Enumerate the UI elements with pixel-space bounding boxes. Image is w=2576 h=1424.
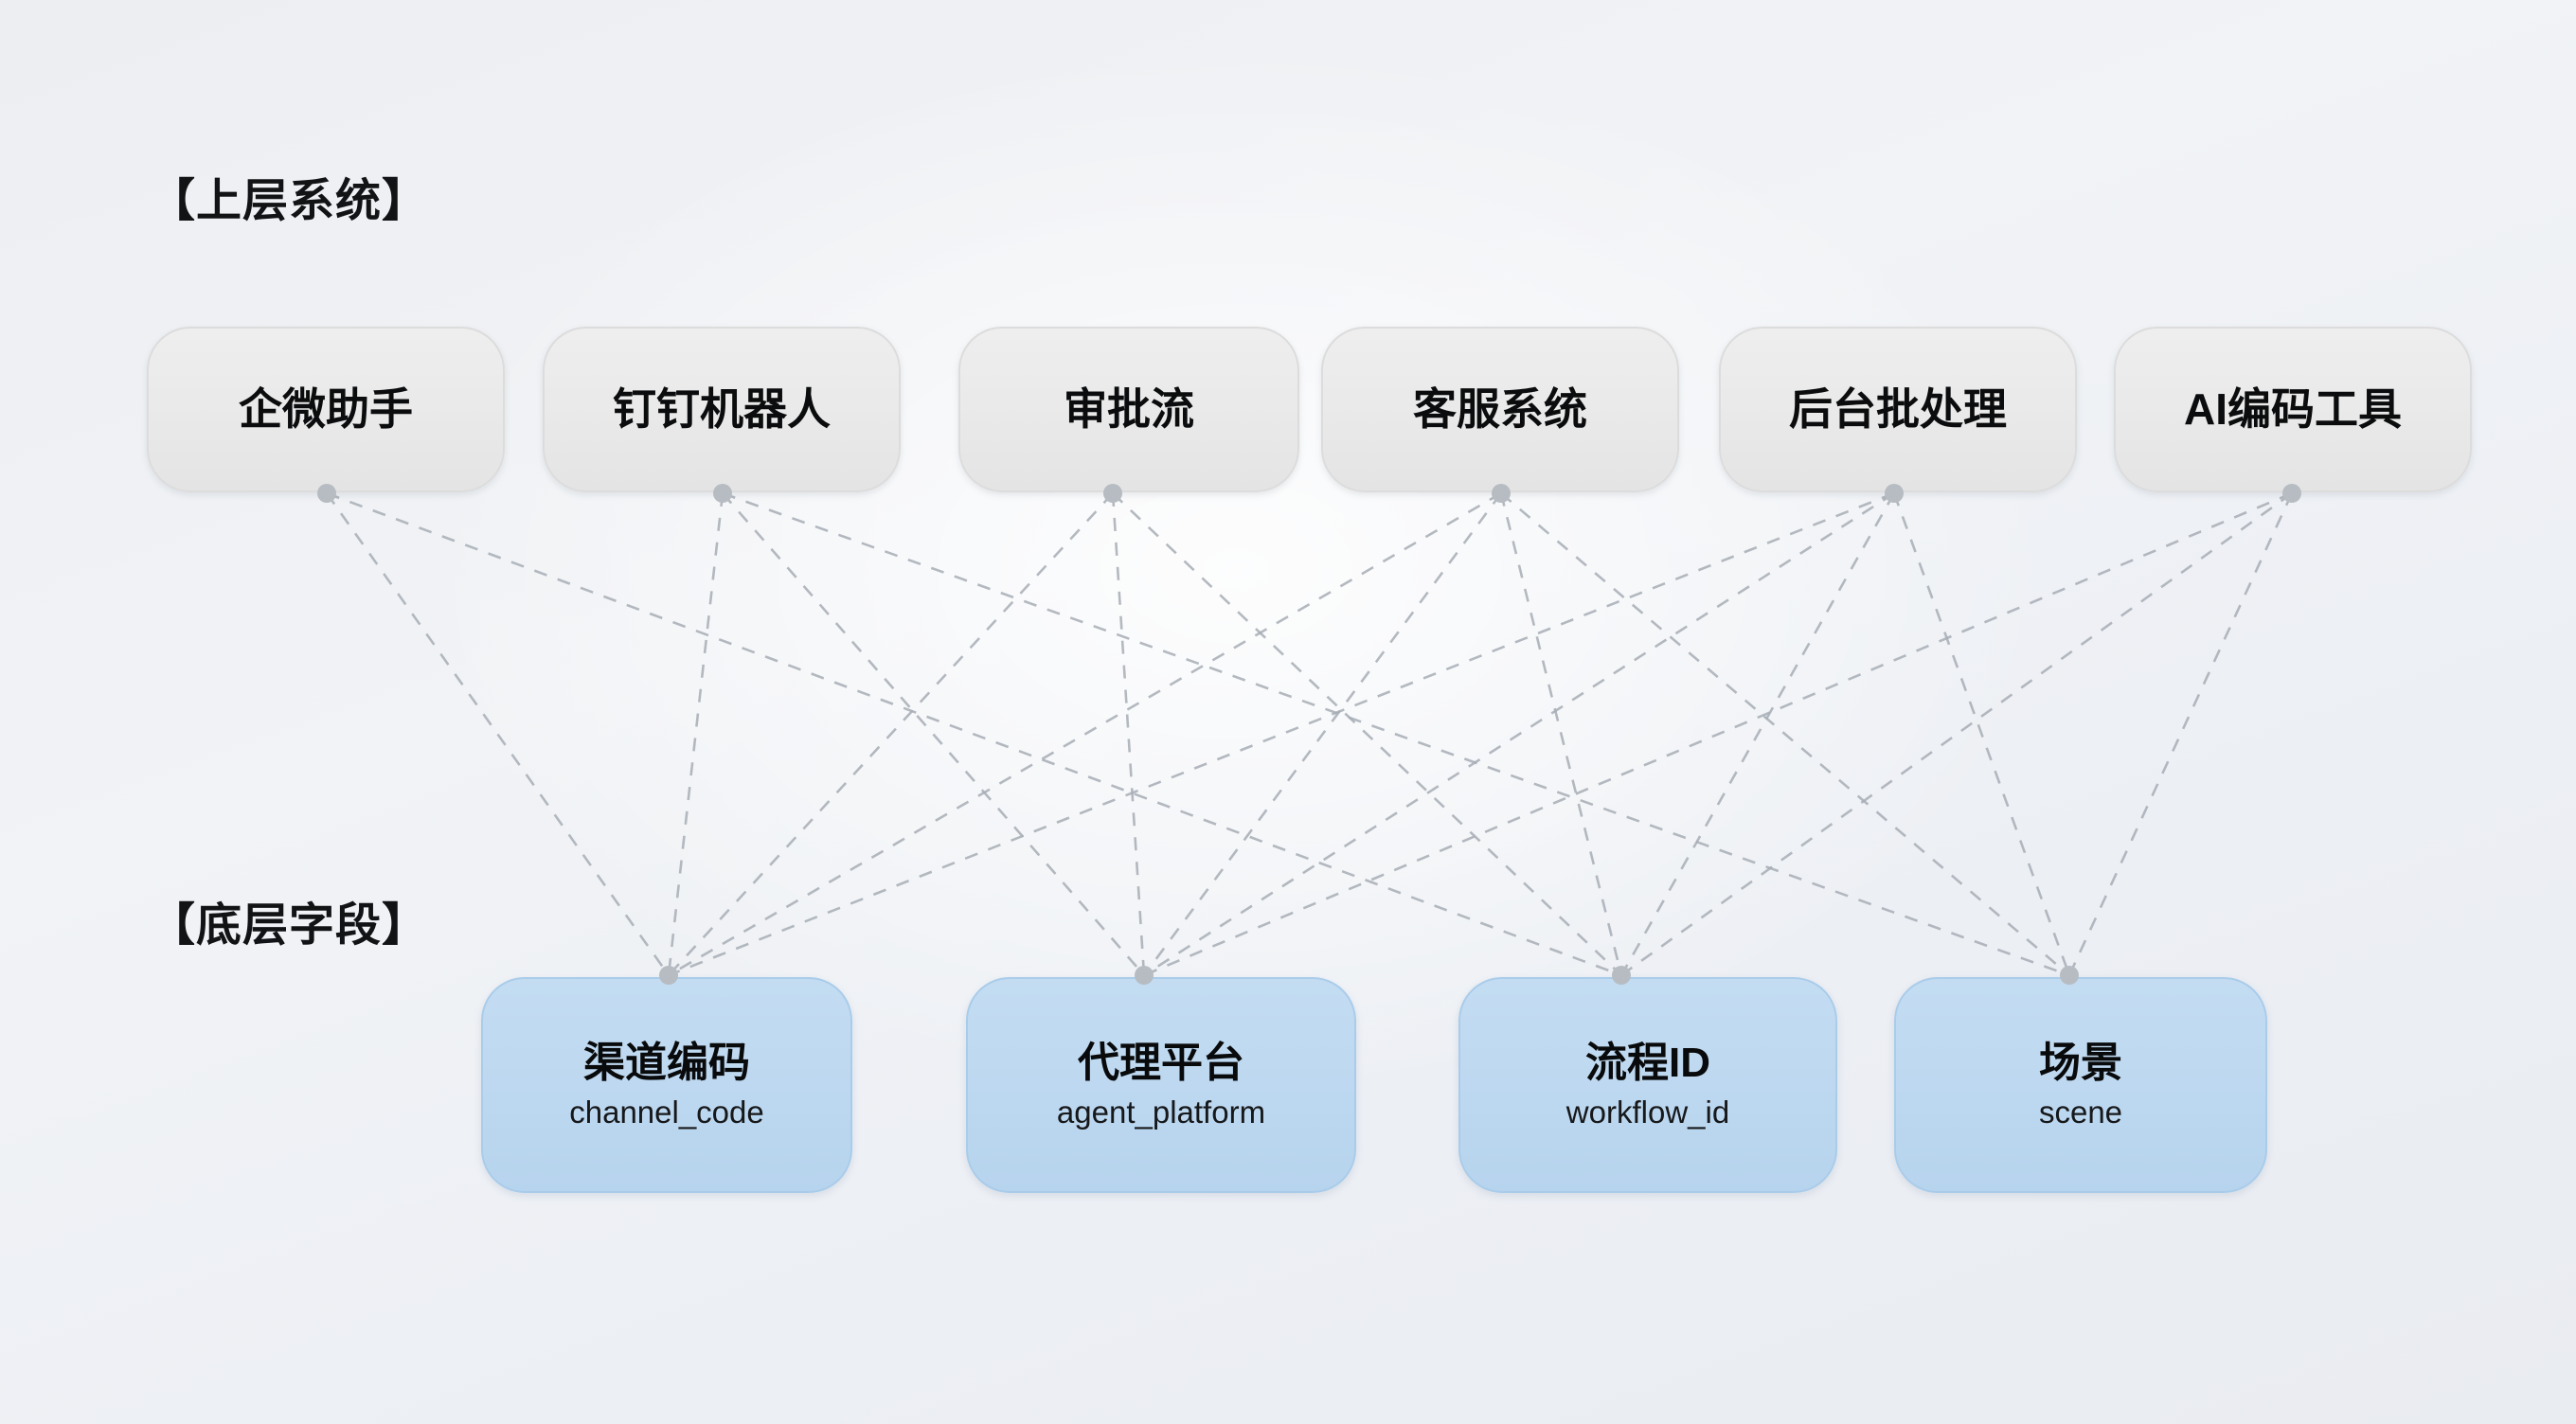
upper-node-batch[interactable]: 后台批处理 xyxy=(1719,327,2077,492)
upper-node-qiwei[interactable]: 企微助手 xyxy=(147,327,505,492)
lower-node-label: 场景 xyxy=(2039,1041,2122,1085)
upper-node-service[interactable]: 客服系统 xyxy=(1321,327,1679,492)
lower-node-channel[interactable]: 渠道编码channel_code xyxy=(481,977,852,1193)
edge-batch-to-scene xyxy=(1894,493,2069,975)
lower-node-scene[interactable]: 场景scene xyxy=(1894,977,2267,1193)
lower-node-label: 渠道编码 xyxy=(583,1041,750,1085)
upper-node-dingding[interactable]: 钉钉机器人 xyxy=(543,327,901,492)
lower-anchor-scene xyxy=(2060,966,2079,985)
upper-node-label: 审批流 xyxy=(1064,386,1194,432)
edge-service-to-scene xyxy=(1501,493,2069,975)
upper-node-label: 企微助手 xyxy=(239,386,413,432)
upper-anchor-service xyxy=(1492,484,1511,503)
edge-batch-to-channel xyxy=(669,493,1894,975)
lower-anchor-platform xyxy=(1135,966,1154,985)
lower-node-field-name: agent_platform xyxy=(1057,1096,1265,1130)
edge-service-to-platform xyxy=(1144,493,1501,975)
edge-dingding-to-scene xyxy=(723,493,2069,975)
lower-node-field-name: channel_code xyxy=(569,1096,764,1130)
edge-approval-to-platform xyxy=(1113,493,1144,975)
edge-service-to-channel xyxy=(669,493,1501,975)
upper-node-approval[interactable]: 审批流 xyxy=(958,327,1299,492)
edge-aitool-to-workflow xyxy=(1621,493,2292,975)
upper-anchor-dingding xyxy=(713,484,732,503)
lower-node-label: 代理平台 xyxy=(1078,1041,1244,1085)
section-label-lower: 【底层字段】 xyxy=(150,887,428,953)
edge-approval-to-workflow xyxy=(1113,493,1621,975)
edge-batch-to-platform xyxy=(1144,493,1894,975)
lower-node-field-name: scene xyxy=(2039,1096,2122,1130)
lower-anchor-workflow xyxy=(1612,966,1631,985)
upper-anchor-batch xyxy=(1885,484,1904,503)
edge-approval-to-channel xyxy=(669,493,1113,975)
edge-service-to-workflow xyxy=(1501,493,1621,975)
lower-node-field-name: workflow_id xyxy=(1566,1096,1729,1130)
section-label-upper: 【上层系统】 xyxy=(150,163,428,229)
edge-aitool-to-platform xyxy=(1144,493,2292,975)
upper-node-label: 钉钉机器人 xyxy=(613,386,831,432)
diagram-canvas: 【上层系统】 【底层字段】 企微助手钉钉机器人审批流客服系统后台批处理AI编码工… xyxy=(0,0,2576,1424)
edge-dingding-to-platform xyxy=(723,493,1144,975)
edge-batch-to-workflow xyxy=(1621,493,1894,975)
lower-node-platform[interactable]: 代理平台agent_platform xyxy=(966,977,1356,1193)
upper-node-aitool[interactable]: AI编码工具 xyxy=(2114,327,2472,492)
upper-anchor-approval xyxy=(1103,484,1122,503)
lower-node-label: 流程ID xyxy=(1585,1041,1710,1085)
lower-anchor-channel xyxy=(659,966,678,985)
edge-aitool-to-scene xyxy=(2069,493,2292,975)
edge-qiwei-to-workflow xyxy=(327,493,1621,975)
lower-node-workflow[interactable]: 流程IDworkflow_id xyxy=(1458,977,1837,1193)
upper-node-label: 客服系统 xyxy=(1413,386,1587,432)
upper-anchor-qiwei xyxy=(317,484,336,503)
upper-anchor-aitool xyxy=(2282,484,2301,503)
edge-dingding-to-channel xyxy=(669,493,723,975)
upper-node-label: 后台批处理 xyxy=(1789,386,2007,432)
upper-node-label: AI编码工具 xyxy=(2184,386,2402,432)
